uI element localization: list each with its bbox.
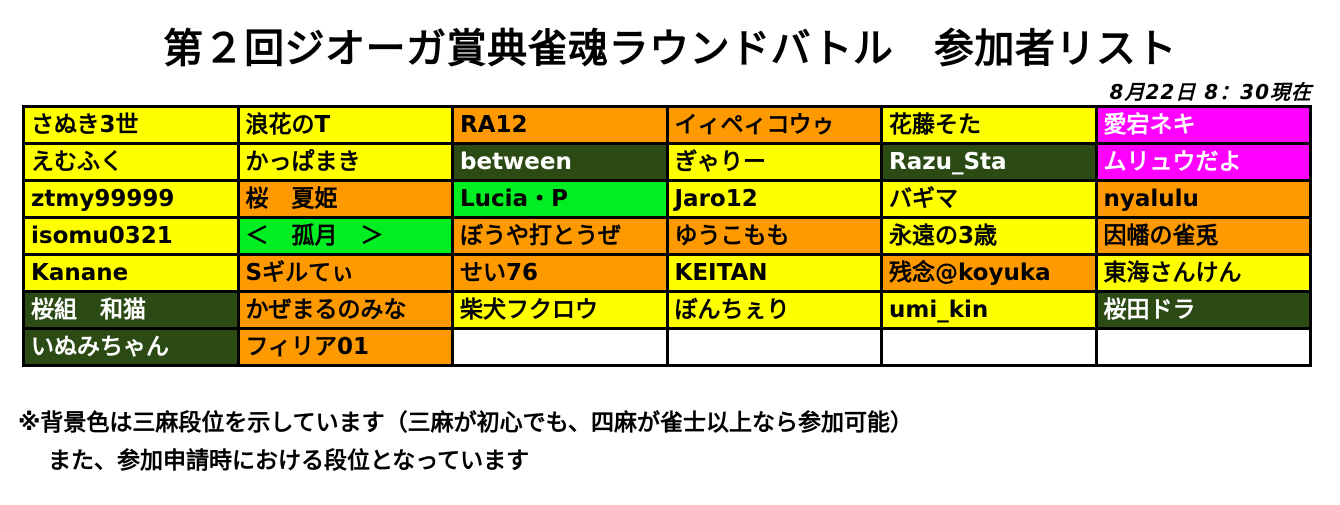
participant-cell: 桜田ドラ bbox=[1096, 292, 1311, 329]
participant-cell: かぜまるのみな bbox=[238, 292, 453, 329]
footnote-line-1: ※背景色は三麻段位を示しています（三麻が初心でも、四麻が雀士以上なら参加可能） bbox=[18, 404, 913, 442]
participant-cell: 花藤そた bbox=[882, 107, 1097, 144]
participant-cell: イィペィコウゥ bbox=[667, 107, 882, 144]
participant-cell: 浪花のT bbox=[238, 107, 453, 144]
participant-cell: Sギルてぃ bbox=[238, 255, 453, 292]
participant-cell: ＜ 孤月 ＞ bbox=[238, 218, 453, 255]
participant-cell: 残念@koyuka bbox=[882, 255, 1097, 292]
participant-cell: ゆうこもも bbox=[667, 218, 882, 255]
footnote-block: ※背景色は三麻段位を示しています（三麻が初心でも、四麻が雀士以上なら参加可能） … bbox=[18, 404, 913, 480]
participant-cell: 東海さんけん bbox=[1096, 255, 1311, 292]
empty-cell bbox=[667, 329, 882, 366]
participant-cell: KEITAN bbox=[667, 255, 882, 292]
participant-cell: えむふく bbox=[24, 144, 239, 181]
participant-cell: Lucia・P bbox=[453, 181, 668, 218]
participant-cell: 桜 夏姫 bbox=[238, 181, 453, 218]
participant-cell: Kanane bbox=[24, 255, 239, 292]
participant-cell: ぎゃりー bbox=[667, 144, 882, 181]
participant-cell: 愛宕ネキ bbox=[1096, 107, 1311, 144]
participant-cell: さぬき3世 bbox=[24, 107, 239, 144]
page-title: 第２回ジオーガ賞典雀魂ラウンドバトル 参加者リスト bbox=[0, 16, 1340, 74]
table-row: さぬき3世浪花のTRA12イィペィコウゥ花藤そた愛宕ネキ bbox=[24, 107, 1311, 144]
participant-cell: かっぱまき bbox=[238, 144, 453, 181]
table-row: えむふくかっぱまきbetweenぎゃりーRazu_Staムリュウだよ bbox=[24, 144, 1311, 181]
empty-cell bbox=[1096, 329, 1311, 366]
participant-cell: Razu_Sta bbox=[882, 144, 1097, 181]
roster-table-body: さぬき3世浪花のTRA12イィペィコウゥ花藤そた愛宕ネキえむふくかっぱまきbet… bbox=[24, 107, 1311, 366]
participant-cell: 永遠の3歳 bbox=[882, 218, 1097, 255]
timestamp-label: 8月22日 8：30現在 bbox=[1110, 76, 1312, 105]
participant-roster-table: さぬき3世浪花のTRA12イィペィコウゥ花藤そた愛宕ネキえむふくかっぱまきbet… bbox=[22, 105, 1312, 367]
table-row: 桜組 和猫かぜまるのみな柴犬フクロウぼんちぇりumi_kin桜田ドラ bbox=[24, 292, 1311, 329]
participant-cell: 桜組 和猫 bbox=[24, 292, 239, 329]
participant-cell: フィリア01 bbox=[238, 329, 453, 366]
table-row: いぬみちゃんフィリア01 bbox=[24, 329, 1311, 366]
participant-cell: umi_kin bbox=[882, 292, 1097, 329]
participant-cell: ムリュウだよ bbox=[1096, 144, 1311, 181]
participant-cell: バギマ bbox=[882, 181, 1097, 218]
participant-cell: RA12 bbox=[453, 107, 668, 144]
participant-cell: nyalulu bbox=[1096, 181, 1311, 218]
participant-cell: between bbox=[453, 144, 668, 181]
participant-cell: ぼんちぇり bbox=[667, 292, 882, 329]
empty-cell bbox=[453, 329, 668, 366]
table-row: isomu0321＜ 孤月 ＞ぼうや打とうぜゆうこもも永遠の3歳因幡の雀兎 bbox=[24, 218, 1311, 255]
participant-cell: ztmy99999 bbox=[24, 181, 239, 218]
participant-cell: ぼうや打とうぜ bbox=[453, 218, 668, 255]
table-row: KananeSギルてぃせい76KEITAN残念@koyuka東海さんけん bbox=[24, 255, 1311, 292]
table-row: ztmy99999桜 夏姫Lucia・PJaro12バギマnyalulu bbox=[24, 181, 1311, 218]
participant-cell: 柴犬フクロウ bbox=[453, 292, 668, 329]
participant-cell: せい76 bbox=[453, 255, 668, 292]
footnote-line-2: また、参加申請時における段位となっています bbox=[18, 442, 913, 480]
empty-cell bbox=[882, 329, 1097, 366]
participant-cell: いぬみちゃん bbox=[24, 329, 239, 366]
participant-cell: 因幡の雀兎 bbox=[1096, 218, 1311, 255]
participant-cell: isomu0321 bbox=[24, 218, 239, 255]
participant-cell: Jaro12 bbox=[667, 181, 882, 218]
